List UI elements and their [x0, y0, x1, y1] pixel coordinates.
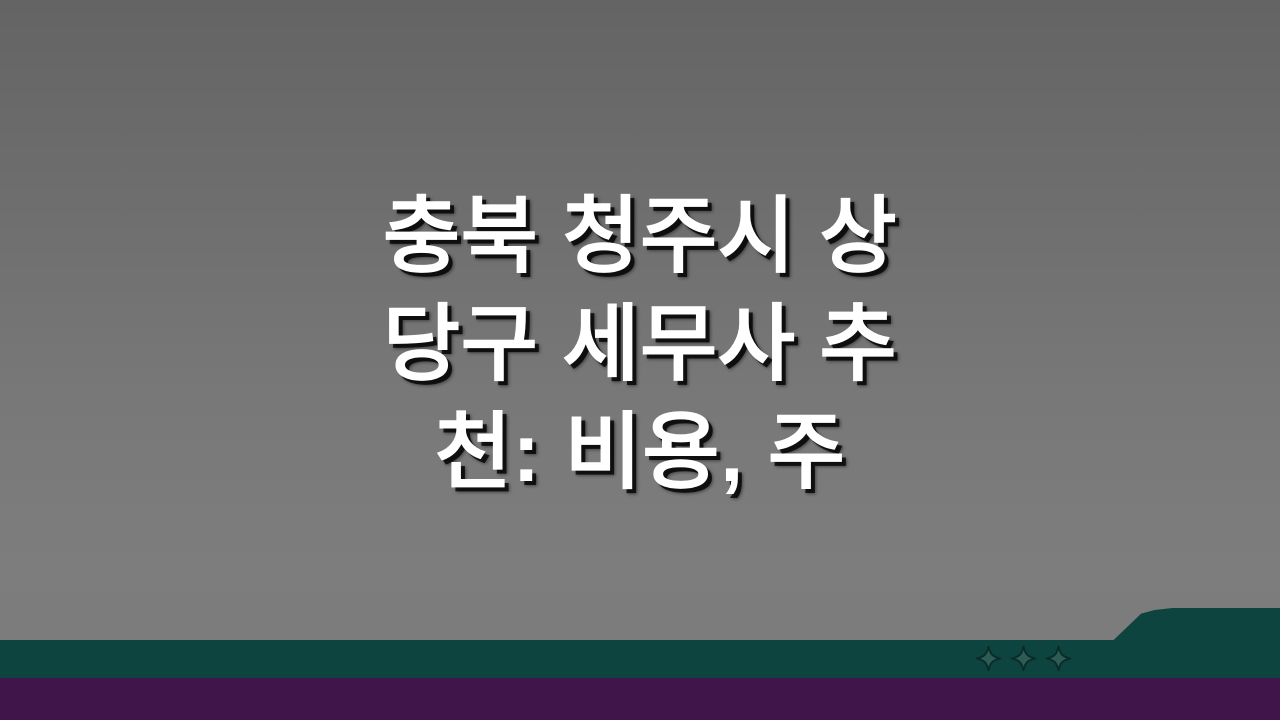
title-card-canvas: 충북 청주시 상 당구 세무사 추 천: 비용, 주 [0, 0, 1280, 720]
headline-line-1: 충북 청주시 상 [60, 182, 1220, 290]
headline-line-3: 천: 비용, 주 [60, 398, 1220, 506]
sparkle-diamond-icon [975, 645, 1002, 672]
footer-teal-band [0, 608, 1280, 680]
sparkle-diamond-icon [1045, 645, 1072, 672]
sparkle-group [975, 643, 1085, 673]
headline-line-2: 당구 세무사 추 [60, 290, 1220, 398]
headline-block: 충북 청주시 상 당구 세무사 추 천: 비용, 주 [0, 182, 1280, 506]
teal-band-base [0, 640, 1280, 680]
footer-purple-band [0, 678, 1280, 720]
sparkle-diamond-icon [1010, 645, 1037, 672]
